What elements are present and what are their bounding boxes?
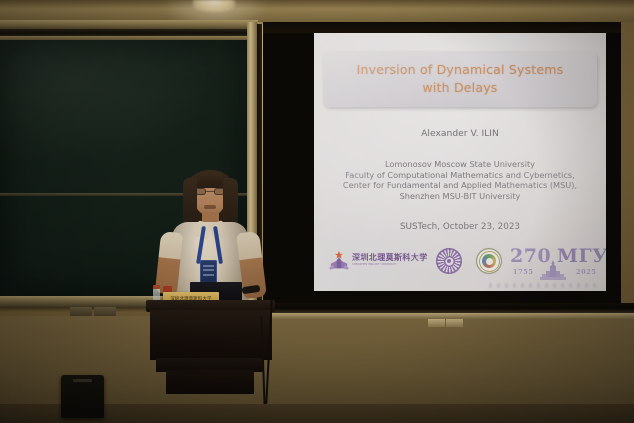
water-bottle-cap [153,285,160,289]
cmc-msu-logo-icon [436,248,462,274]
affiliation-line-2: Faculty of Computational Mathematics and… [314,170,606,181]
affiliation-line-3: Center for Fundamental and Applied Mathe… [314,180,606,191]
badge-text-line [203,269,214,271]
loudspeaker-port [73,379,92,382]
presenter-mouth [204,205,216,209]
msu-seal-icon [476,248,502,274]
slide-affiliation: Lomonosov Moscow State University Facult… [314,159,606,201]
cmc-logo-center-dot [447,259,451,263]
affiliation-line-4: Shenzhen MSU-BIT University [314,191,606,202]
msu-main-building-icon [540,260,566,280]
badge-text-line [203,265,214,267]
slide-author: Alexander V. ILIN [314,128,606,139]
blackboard-top-rail [0,29,252,36]
blackboard-top-frame [0,20,258,29]
ceiling [0,0,634,22]
projected-slide: Inversion of Dynamical Systems with Dela… [314,33,606,291]
lecture-hall-photo: Inversion of Dynamical Systems with Dela… [0,0,634,423]
shenzhen-logo-name-cn: 深圳北理莫斯科大学 [352,252,428,263]
projection-screen-top-bar [263,22,621,33]
blackboard-eraser [70,307,92,316]
rail-chalk-holder [446,319,463,327]
anniversary-year-to: 2025 [576,268,597,276]
shenzhen-logo-name-en: SHENZHEN MSU-BIT UNIVERSITY [352,263,397,266]
shenzhen-msu-bit-logo-icon [328,250,350,272]
presenter-glasses [195,188,225,196]
glasses-bridge [206,191,214,192]
podium-base [166,370,254,394]
screen-bottom-rail [253,303,634,313]
slide-title-line-1: Inversion of Dynamical Systems [323,62,597,77]
affiliation-line-1: Lomonosov Moscow State University [314,159,606,170]
glasses-left-lens [195,188,206,195]
blackboard-eraser [94,307,116,316]
slide-venue-date: SUSTech, October 23, 2023 [314,222,606,232]
badge-text-line [203,274,214,276]
msu-seal-center [486,258,493,265]
anniversary-year-from: 1755 [513,268,534,276]
beamer-navigation-bar [489,283,601,288]
glasses-right-lens [214,188,225,195]
slide-title-line-2: with Delays [323,80,597,95]
conference-badge [200,260,217,283]
slide-logo-row: 深圳北理莫斯科大学 SHENZHEN MSU-BIT UNIVERSITY 27… [314,244,606,282]
rail-chalk-holder [428,319,445,327]
podium-body [150,310,272,360]
recessed-ceiling-light [193,0,235,12]
slide-title-box: Inversion of Dynamical Systems with Dela… [323,51,597,107]
